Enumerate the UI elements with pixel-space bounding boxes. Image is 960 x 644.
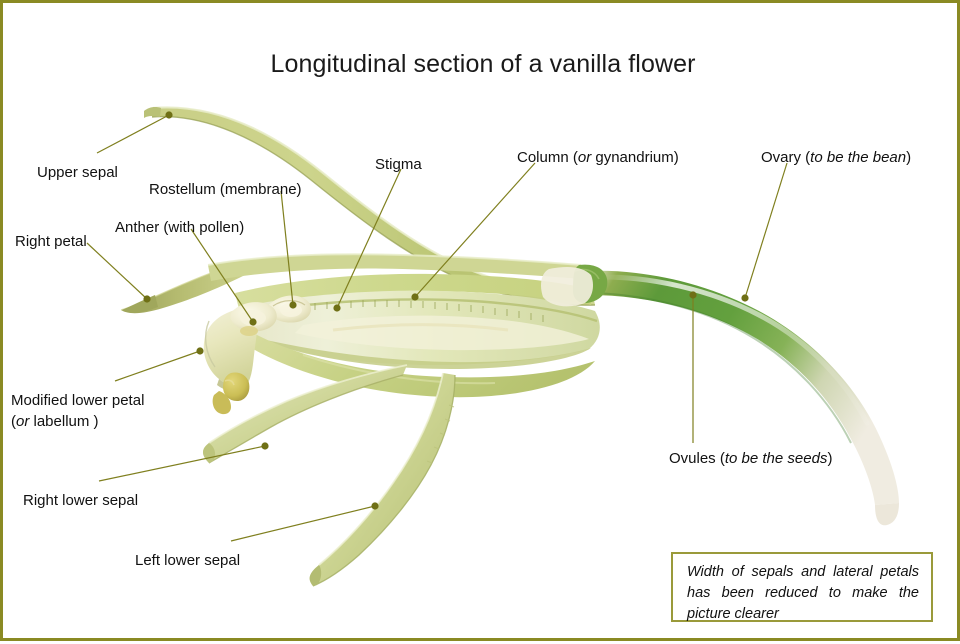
label-ovules-suffix: ) — [827, 450, 832, 467]
label-column-emphasis: or — [578, 149, 591, 166]
label-column: Column (or gynandrium) — [517, 148, 679, 167]
label-left-lower-sepal: Left lower sepal — [135, 551, 240, 570]
note-box: Width of sepals and lateral petals has b… — [671, 552, 933, 622]
label-left-lower-sepal-text: Left lower sepal — [135, 552, 240, 569]
label-column-suffix: gynandrium) — [591, 149, 679, 166]
label-upper-sepal-text: Upper sepal — [37, 164, 118, 181]
label-anther: Anther (with pollen) — [115, 218, 244, 237]
label-stigma-text: Stigma — [375, 156, 422, 173]
label-rostellum: Rostellum (membrane) — [149, 180, 302, 199]
label-ovary-suffix: ) — [906, 149, 911, 166]
label-stigma: Stigma — [375, 155, 422, 174]
specimen-left-lower-sepal — [310, 373, 455, 586]
label-column-prefix: Column ( — [517, 149, 578, 166]
label-modified-lower-petal-emphasis: or — [16, 413, 29, 430]
label-modified-lower-petal-line1: Modified lower petal — [11, 392, 144, 409]
label-ovules-prefix: Ovules ( — [669, 450, 725, 467]
vanilla-flower-illustration — [3, 3, 960, 644]
label-right-lower-sepal-text: Right lower sepal — [23, 492, 138, 509]
label-right-lower-sepal: Right lower sepal — [23, 491, 138, 510]
figure-stage: Longitudinal section of a vanilla flower… — [3, 3, 957, 638]
label-modified-lower-petal: Modified lower petal (or labellum ) — [11, 390, 211, 432]
figure-frame: Longitudinal section of a vanilla flower… — [0, 0, 960, 641]
label-upper-sepal: Upper sepal — [37, 163, 118, 182]
label-ovules-emphasis: to be the seeds — [725, 450, 828, 467]
label-ovary-emphasis: to be the bean — [810, 149, 906, 166]
label-ovary: Ovary (to be the bean) — [761, 148, 911, 167]
label-ovary-prefix: Ovary ( — [761, 149, 810, 166]
label-rostellum-text: Rostellum (membrane) — [149, 181, 302, 198]
label-modified-lower-petal-suffix: labellum ) — [29, 413, 98, 430]
figure-title: Longitudinal section of a vanilla flower — [3, 50, 960, 79]
label-right-petal-text: Right petal — [15, 233, 87, 250]
label-anther-text: Anther (with pollen) — [115, 219, 244, 236]
label-ovules: Ovules (to be the seeds) — [669, 449, 832, 468]
label-right-petal: Right petal — [15, 232, 87, 251]
